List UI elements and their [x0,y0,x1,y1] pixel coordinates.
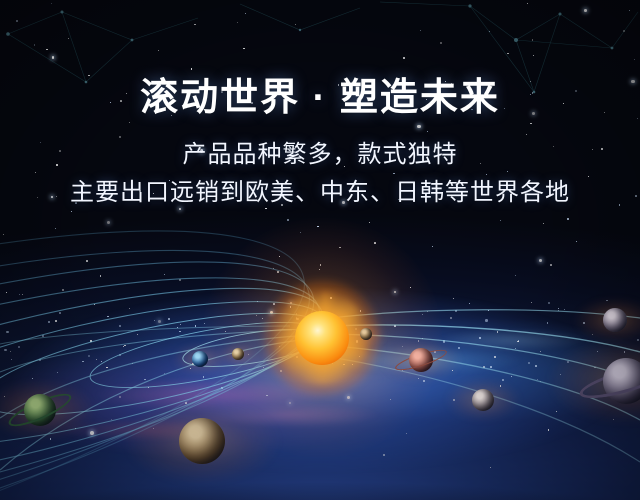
banner-text-block: 滚动世界 · 塑造未来 产品品种繁多，款式独特 主要出口远销到欧美、中东、日韩等… [0,0,640,208]
banner-subtitle-2: 主要出口远销到欧美、中东、日韩等世界各地 [0,178,640,208]
space-banner: 滚动世界 · 塑造未来 产品品种繁多，款式独特 主要出口远销到欧美、中东、日韩等… [0,0,640,500]
banner-subtitle-1: 产品品种繁多，款式独特 [0,140,640,170]
banner-headline: 滚动世界 · 塑造未来 [0,78,640,119]
